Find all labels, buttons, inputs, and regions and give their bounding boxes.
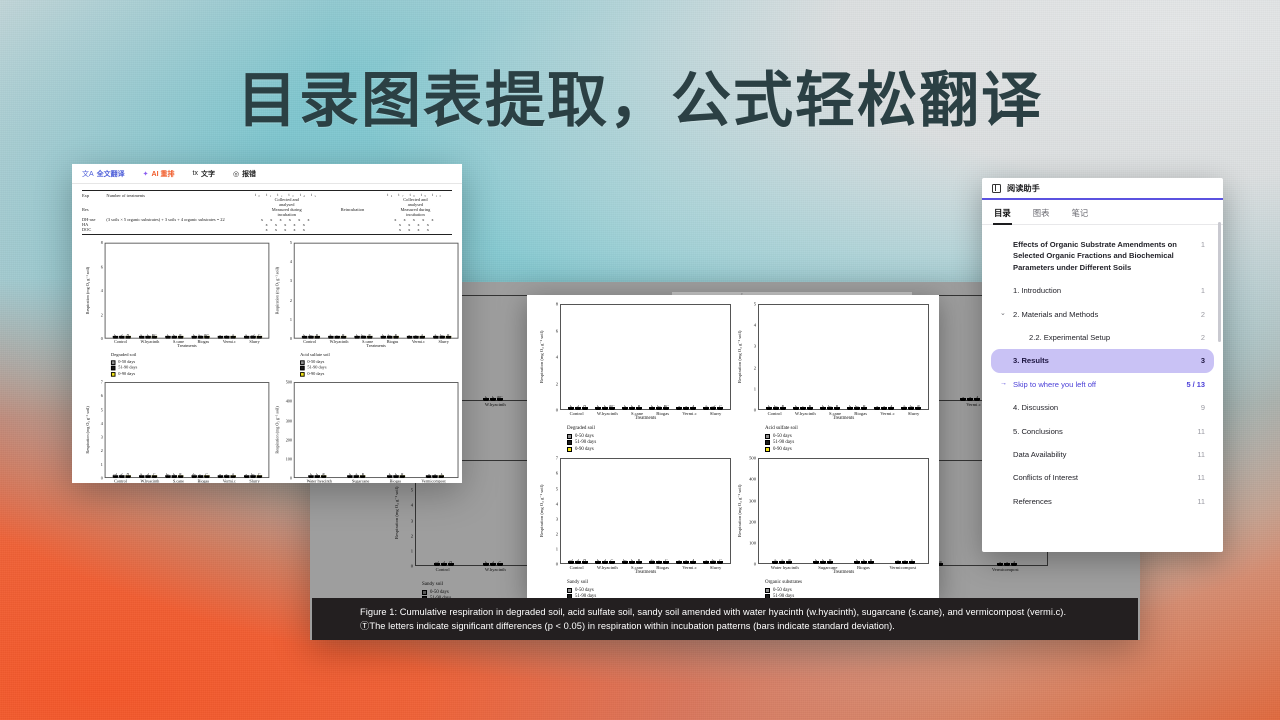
y-axis-tick-label: 1 xyxy=(754,386,756,391)
legend-label: 0-50 days xyxy=(773,588,792,593)
table-subheader-row: ResMeasured duringincubationReincubation… xyxy=(82,207,452,217)
legend-item: 0-90 days xyxy=(111,372,269,377)
toolbar-text-button[interactable]: tx文字 xyxy=(193,169,215,179)
y-axis-tick-label: 500 xyxy=(286,380,292,385)
toolbar-translate-button[interactable]: 文A全文翻译 xyxy=(82,169,125,179)
toc-item-4[interactable]: 3. Results3 xyxy=(991,349,1214,372)
toc-item-page: 11 xyxy=(1191,496,1205,507)
x-axis-tick-label: Slurry xyxy=(249,340,259,345)
chart-title: Acid sulfate soil xyxy=(300,353,458,358)
chart-title: Acid sulfate soil xyxy=(765,426,929,431)
significance-letter: c xyxy=(802,404,804,409)
significance-letter: a xyxy=(685,404,687,409)
chart-panel: Respiration (mg O₂ g⁻¹ soil)010020030040… xyxy=(271,380,460,483)
y-axis-tick-label: 4 xyxy=(556,501,558,506)
significance-letter: b xyxy=(303,333,305,338)
chart-canvas: cddDbdCbcbBdecCaaAebcC xyxy=(105,382,270,478)
significance-letter: A xyxy=(232,333,234,338)
legend-label: 0-50 days xyxy=(118,360,135,365)
bar-group: aaA xyxy=(426,383,444,477)
bar-group: bbcB xyxy=(901,305,921,409)
legend-swatch xyxy=(300,372,305,377)
significance-letter: cd xyxy=(113,473,116,478)
significance-letter: b xyxy=(193,333,195,338)
chart-canvas: cddDbdCbcbBdecCaaAebcC xyxy=(560,458,731,564)
significance-letter: bc xyxy=(774,404,778,409)
chart-canvas: bbcBbcBbbcBbbcBaaAbbcB xyxy=(294,243,459,339)
x-axis-tick-label: Water hyacinth xyxy=(307,479,332,483)
y-axis-tick-label: 1 xyxy=(101,462,103,467)
y-axis-tick-label: 0 xyxy=(556,562,558,567)
toolbar-sparkle-button[interactable]: ✦AI 重排 xyxy=(143,169,175,179)
table-subheader-measured-right: Measured duringincubation xyxy=(379,207,452,217)
x-axis-tick-label: Biogas xyxy=(656,411,669,416)
reading-assistant-tabs[interactable]: 目录图表笔记 xyxy=(982,200,1223,225)
x-axis-tick-label: Vermi.c xyxy=(223,479,236,483)
y-axis-tick-label: 5 xyxy=(101,407,103,412)
figure-preview-card: Respiration (mg O₂ g⁻¹ soil)02468bdDbbBC… xyxy=(527,295,939,598)
toolbar-button-label: 报错 xyxy=(242,169,256,179)
significance-letter: b xyxy=(316,473,318,478)
significance-letter: b xyxy=(781,558,783,563)
bar-group: aaA xyxy=(217,383,235,477)
toc-item-page: 11 xyxy=(1191,472,1205,483)
significance-letter: B xyxy=(781,404,783,409)
chart-title: Degraded soil xyxy=(111,353,269,358)
significance-letter: b xyxy=(631,404,633,409)
significance-letter: d xyxy=(120,473,122,478)
table-header-collected-left: t₀ t₁ t₂ t₃ t₄ t₅Collected andanalysed xyxy=(247,193,326,207)
legend-swatch xyxy=(567,440,572,445)
bar-group: bbcB xyxy=(433,244,451,338)
significance-letter: cd xyxy=(711,404,715,409)
toc-item-page: 9 xyxy=(1195,402,1205,413)
document-toolbar[interactable]: 文A全文翻译✦AI 重排tx文字◎报错 xyxy=(72,164,462,184)
y-axis-tick-label: 0 xyxy=(556,408,558,413)
y-axis-tick-label: 2 xyxy=(556,531,558,536)
significance-letter: d xyxy=(120,333,122,338)
document-page-body: ExpNumber of treatmentst₀ t₁ t₂ t₃ t₄ t₅… xyxy=(72,184,462,483)
significance-letter: B xyxy=(401,473,403,478)
legend-label: 0-50 days xyxy=(575,434,594,439)
significance-letter: b xyxy=(651,404,653,409)
x-axis-tick-label: Vermi.c xyxy=(880,411,894,416)
significance-letter: B xyxy=(316,333,318,338)
significance-letter: A xyxy=(692,558,694,563)
bar-group: bbB xyxy=(308,383,326,477)
document-figure-grid-inner: Respiration (mg O₂ g⁻¹ soil)02468bdDbbBC… xyxy=(82,240,460,457)
x-axis-tick-label: Biogas xyxy=(857,565,870,570)
y-axis-ticks: 012345 xyxy=(281,243,294,339)
x-axis-tick-labels: Water hyacinthSugarcaneBiogasVermicompos… xyxy=(294,478,459,483)
translate-icon: 文A xyxy=(82,169,94,179)
x-axis-tick-label: Vermi.c xyxy=(682,565,696,570)
significance-letter: C xyxy=(205,473,207,478)
toc-item-page: 11 xyxy=(1191,426,1205,437)
bar-group: bbB xyxy=(813,459,833,563)
legend-label: 0-90 days xyxy=(307,372,324,377)
legend-item: 51-90 days xyxy=(567,440,731,445)
x-axis-tick-label: Control xyxy=(114,340,127,345)
x-axis-tick-label: Slurry xyxy=(710,565,721,570)
document-viewer-window[interactable]: 文A全文翻译✦AI 重排tx文字◎报错 ExpNumber of treatme… xyxy=(72,164,462,483)
legend-item: 51-90 days xyxy=(111,366,269,371)
x-axis-tick-label: Biogas xyxy=(854,411,867,416)
legend-swatch xyxy=(111,360,116,365)
x-axis-tick-label: Control xyxy=(768,411,782,416)
y-axis-tick-label: 300 xyxy=(749,498,756,503)
significance-letter: B xyxy=(836,404,838,409)
significance-letter: A xyxy=(440,473,442,478)
bar-group: bbcB xyxy=(301,244,319,338)
y-axis-tick-label: 200 xyxy=(749,519,756,524)
significance-letter: bc xyxy=(388,333,391,338)
significance-letter: b xyxy=(173,473,175,478)
bar-group: bbB xyxy=(854,459,874,563)
significance-letter: b xyxy=(570,404,572,409)
y-axis-tick-label: 100 xyxy=(286,457,292,462)
table-header-treatments: Number of treatments xyxy=(106,193,247,198)
bar-group: bbB xyxy=(347,383,365,477)
legend-swatch xyxy=(765,588,770,593)
table-rule-top xyxy=(82,190,452,191)
x-axis-tick-label: Slurry xyxy=(249,479,259,483)
bar-group: aaA xyxy=(895,459,915,563)
x-axis-tick-label: Water hyacinth xyxy=(771,565,799,570)
x-axis-tick-label: Biogas xyxy=(656,565,669,570)
significance-letter: d xyxy=(604,558,606,563)
toc-item-6[interactable]: 4. Discussion9 xyxy=(991,396,1214,419)
toc-item-9[interactable]: Conflicts of Interest11 xyxy=(991,466,1214,489)
y-axis-tick-label: 4 xyxy=(556,355,558,360)
toc-item-7[interactable]: 5. Conclusions11 xyxy=(991,420,1214,443)
toc-item-page: 11 xyxy=(1191,449,1205,460)
significance-letter: BC xyxy=(152,333,157,338)
x-axis-tick-label: Biogas xyxy=(390,479,402,483)
y-axis-ticks: 01234567 xyxy=(92,382,105,478)
chart-plot-area: Respiration (mg O₂ g⁻¹ soil)02468bdDbbBC… xyxy=(84,243,270,339)
toc-item-10[interactable]: References11 xyxy=(991,490,1214,513)
chart-canvas: bdDbbBCbbBbbcBCaaAbcdC xyxy=(105,243,270,339)
legend-label: 0-90 days xyxy=(575,447,594,452)
table-cell-right-marks: x x x x xyxy=(379,227,452,232)
significance-letter: c xyxy=(336,333,338,338)
significance-letter: D xyxy=(583,404,586,409)
reading-assistant-header: 阅读助手 xyxy=(982,178,1223,200)
chart-plot-area: Respiration (mg O₂ g⁻¹ soil)01234567cddD… xyxy=(84,382,270,478)
significance-letter: a xyxy=(225,333,227,338)
significance-letter: a xyxy=(883,404,885,409)
y-axis-tick-label: 4 xyxy=(101,421,103,426)
legend-swatch xyxy=(765,434,770,439)
toolbar-report-button[interactable]: ◎报错 xyxy=(233,169,256,179)
y-axis-tick-label: 6 xyxy=(101,264,103,269)
significance-letter: b xyxy=(356,333,358,338)
toolbar-button-label: 全文翻译 xyxy=(97,169,125,179)
significance-letter: a xyxy=(904,558,906,563)
legend-item: 0-50 days xyxy=(111,360,269,365)
significance-letter: b xyxy=(140,473,142,478)
significance-letter: B xyxy=(917,404,919,409)
chart-legend: Degraded soil0-50 days51-90 days0-90 day… xyxy=(111,353,269,376)
significance-letter: a xyxy=(678,404,680,409)
y-axis-label: Respiration (mg O₂ g⁻¹ soil) xyxy=(735,458,744,564)
significance-letter: b xyxy=(705,404,707,409)
bar-group: aaA xyxy=(406,244,424,338)
bar-group: bbcB xyxy=(820,305,840,409)
y-axis-tick-label: 7 xyxy=(101,380,103,385)
significance-letter: b xyxy=(434,333,436,338)
bar-group: bbcBC xyxy=(649,305,669,409)
figure-caption-bar: Figure 1: Cumulative respiration in degr… xyxy=(312,598,1138,640)
y-axis-tick-label: 5 xyxy=(754,302,756,307)
chart-panel: Respiration (mg O₂ g⁻¹ soil)02468bdDbbBC… xyxy=(82,240,271,380)
significance-letter: b xyxy=(903,404,905,409)
y-axis-tick-label: 400 xyxy=(286,399,292,404)
significance-letter: b xyxy=(597,558,599,563)
significance-letter: b xyxy=(631,558,633,563)
y-axis-tick-label: 8 xyxy=(101,240,103,245)
significance-letter: BC xyxy=(204,333,209,338)
bar-groups: bbBbbBbbBaaA xyxy=(295,383,458,477)
toc-item-label: Data Availability xyxy=(1013,449,1186,460)
toolbar-button-label: AI 重排 xyxy=(152,169,175,179)
x-axis-tick-label: Slurry xyxy=(438,340,448,345)
bar-group: bbB xyxy=(772,459,792,563)
y-axis-tick-label: 6 xyxy=(556,328,558,333)
legend-swatch xyxy=(111,366,116,371)
chart-canvas: bbcBbcBbbcBbbcBaaAbbcB xyxy=(758,304,929,410)
toc-item-0[interactable]: Effects of Organic Substrate Amendments … xyxy=(991,233,1214,279)
bar-groups: cddDbdCbcbBdecCaaAebcC xyxy=(106,383,269,477)
x-axis-tick-label: Slurry xyxy=(908,411,919,416)
x-axis-tick-label: Control xyxy=(570,565,584,570)
toc-item-label: 2. Materials and Methods xyxy=(1013,309,1190,320)
toc-item-1[interactable]: 1. Introduction1 xyxy=(991,279,1214,302)
toc-item-3[interactable]: 2.2. Experimental Setup2 xyxy=(991,326,1214,349)
significance-letter: B xyxy=(394,333,396,338)
significance-letter: b xyxy=(349,473,351,478)
legend-item: 0-50 days xyxy=(765,434,929,439)
table-header-reincubation: Reincubation xyxy=(326,207,379,212)
legend-swatch xyxy=(567,434,572,439)
x-axis-tick-label: W.hyacinth xyxy=(597,565,618,570)
page-title: 目录图表提取，公式轻松翻译 xyxy=(0,52,1280,139)
document-figure-grid: Respiration (mg O₂ g⁻¹ soil)02468bdDbbBC… xyxy=(82,240,417,457)
table-of-contents-list[interactable]: Effects of Organic Substrate Amendments … xyxy=(982,225,1223,513)
y-axis-tick-label: 5 xyxy=(290,240,292,245)
y-axis-tick-label: 0 xyxy=(754,408,756,413)
reading-assistant-title: 阅读助手 xyxy=(1007,182,1040,194)
significance-letter: a xyxy=(678,558,680,563)
y-axis-label: Respiration (mg O₂ g⁻¹ soil) xyxy=(537,304,546,410)
significance-letter: b xyxy=(147,333,149,338)
significance-letter: b xyxy=(795,404,797,409)
significance-letter: b xyxy=(140,333,142,338)
significance-letter: b xyxy=(624,404,626,409)
bar-group: bdC xyxy=(595,459,615,563)
significance-letter: a xyxy=(897,558,899,563)
significance-letter: C xyxy=(665,558,668,563)
legend-label: 51-90 days xyxy=(307,366,326,371)
y-axis-ticks: 02468 xyxy=(546,304,560,410)
significance-letter: BC xyxy=(609,404,614,409)
reading-assistant-panel[interactable]: 阅读助手 目录图表笔记 Effects of Organic Substrate… xyxy=(982,178,1223,552)
legend-item: 0-50 days xyxy=(300,360,458,365)
x-axis-tick-label: Control xyxy=(570,411,584,416)
significance-letter: e xyxy=(705,558,707,563)
y-axis-tick-label: 3 xyxy=(754,344,756,349)
toc-item-label: 4. Discussion xyxy=(1013,402,1190,413)
significance-letter: d xyxy=(577,558,579,563)
chevron-down-icon[interactable]: ⌄ xyxy=(1000,309,1008,320)
significance-letter: a xyxy=(428,473,430,478)
significance-letter: b xyxy=(173,333,175,338)
sparkle-icon: ✦ xyxy=(143,170,149,178)
legend-label: 51-90 days xyxy=(773,440,794,445)
toc-item-label: Skip to where you left off xyxy=(1013,379,1176,390)
legend-swatch xyxy=(111,372,116,377)
chart-plot-area: Respiration (mg O₂ g⁻¹ soil)012345bbcBbc… xyxy=(735,304,929,410)
legend-swatch xyxy=(300,360,305,365)
significance-letter: bc xyxy=(309,333,312,338)
significance-letter: b xyxy=(856,558,858,563)
y-axis-tick-label: 3 xyxy=(556,516,558,521)
y-axis-tick-label: 2 xyxy=(101,312,103,317)
bar-group: aaA xyxy=(217,244,235,338)
x-axis-tick-label: Biogas xyxy=(387,340,399,345)
tab-图表[interactable]: 图表 xyxy=(1033,207,1050,224)
significance-letter: B xyxy=(638,558,640,563)
legend-item: 0-90 days xyxy=(765,447,929,452)
bar-group: aaA xyxy=(676,459,696,563)
tab-笔记[interactable]: 笔记 xyxy=(1072,207,1089,224)
significance-letter: A xyxy=(692,404,694,409)
x-axis-tick-label: Biogas xyxy=(198,479,210,483)
bar-group: bbcB xyxy=(847,305,867,409)
x-axis-tick-label: W.hyacinth xyxy=(597,411,618,416)
y-axis-tick-label: 1 xyxy=(556,547,558,552)
report-icon: ◎ xyxy=(233,170,239,178)
y-axis-tick-label: 1 xyxy=(290,317,292,322)
chart-panel: Respiration (mg O₂ g⁻¹ soil)01234567cddD… xyxy=(535,455,733,609)
scrollbar-thumb[interactable] xyxy=(1218,222,1221,342)
toc-item-5[interactable]: →Skip to where you left off5 / 13 xyxy=(991,373,1214,396)
bar-groups: bdDbbBCbbBbbcBCaaAbcdC xyxy=(106,244,269,338)
significance-letter: B xyxy=(829,558,831,563)
x-axis-tick-label: Vermicompost xyxy=(421,479,445,483)
significance-letter: B xyxy=(870,558,872,563)
bar-groups: cddDbdCbcbBdecCaaAebcC xyxy=(561,459,730,563)
y-axis-label: Respiration (mg O₂ g⁻¹ soil) xyxy=(735,304,744,410)
significance-letter: a xyxy=(225,473,227,478)
significance-letter: b xyxy=(774,558,776,563)
y-axis-label: Respiration (mg O₂ g⁻¹ soil) xyxy=(273,243,281,339)
toc-item-8[interactable]: Data Availability11 xyxy=(991,443,1214,466)
chart-panel: Respiration (mg O₂ g⁻¹ soil)012345bbcBbc… xyxy=(733,301,931,455)
toc-item-2[interactable]: ⌄2. Materials and Methods2 xyxy=(991,303,1214,326)
chart-legend: Degraded soil0-50 days51-90 days0-90 day… xyxy=(567,426,731,452)
y-axis-tick-label: 500 xyxy=(749,456,756,461)
legend-swatch xyxy=(300,366,305,371)
toc-item-label: 2.2. Experimental Setup xyxy=(1013,332,1190,343)
bar-group: bbB xyxy=(622,305,642,409)
table-header-row: ExpNumber of treatmentst₀ t₁ t₂ t₃ t₄ t₅… xyxy=(82,193,452,207)
bar-group: aaA xyxy=(874,305,894,409)
tab-目录[interactable]: 目录 xyxy=(994,207,1011,224)
legend-item: 0-50 days xyxy=(567,588,731,593)
y-axis-tick-label: 0 xyxy=(290,476,292,481)
x-axis-tick-label: W.hyacinth xyxy=(795,411,816,416)
bar-group: bbB xyxy=(165,244,183,338)
bar-group: bdC xyxy=(139,383,157,477)
bar-group: bbBC xyxy=(595,305,615,409)
figure-caption-text: Figure 1: Cumulative respiration in degr… xyxy=(360,607,1066,631)
bar-group: decC xyxy=(649,459,669,563)
significance-letter: bc xyxy=(909,404,913,409)
significance-letter: B xyxy=(447,333,449,338)
bar-group: ebcC xyxy=(703,459,723,563)
significance-letter: bc xyxy=(828,404,832,409)
bar-group: bdD xyxy=(568,305,588,409)
y-axis-tick-label: 3 xyxy=(290,279,292,284)
significance-letter: b xyxy=(167,333,169,338)
chart-panel: Respiration (mg O₂ g⁻¹ soil)02468bdDbbBC… xyxy=(535,301,733,455)
y-axis-tick-label: 0 xyxy=(290,336,292,341)
y-axis-tick-label: 2 xyxy=(101,449,103,454)
legend-label: 51-90 days xyxy=(575,440,596,445)
chart-legend: Acid sulfate soil0-50 days51-90 days0-90… xyxy=(765,426,929,452)
significance-letter: cd xyxy=(251,333,254,338)
y-axis-tick-label: 6 xyxy=(101,394,103,399)
y-axis-tick-label: 0 xyxy=(101,476,103,481)
bar-group: bcdC xyxy=(244,244,262,338)
significance-letter: bc xyxy=(361,333,364,338)
significance-letter: bc xyxy=(855,404,859,409)
significance-letter: b xyxy=(597,404,599,409)
x-axis-tick-label: Control xyxy=(303,340,316,345)
panel-toggle-icon[interactable] xyxy=(992,184,1001,193)
arrow-right-icon[interactable]: → xyxy=(1000,379,1008,390)
significance-letter: b xyxy=(310,473,312,478)
significance-letter: b xyxy=(389,473,391,478)
y-axis-label: Respiration (mg O₂ g⁻¹ soil) xyxy=(84,382,92,478)
table-header-collected-right: t₆ t₇ t₈ t₉ t₁₀Collected andanalysed xyxy=(379,193,452,207)
significance-letter: b xyxy=(245,333,247,338)
x-axis-label: Treatments xyxy=(560,416,731,421)
table-rule-bottom xyxy=(82,234,452,235)
bar-group: bbcB xyxy=(766,305,786,409)
x-axis-tick-labels: ControlW.hyacinthS.caneBiogasVermi.cSlur… xyxy=(105,478,270,483)
y-axis-tick-label: 2 xyxy=(556,381,558,386)
y-axis-tick-label: 100 xyxy=(749,541,756,546)
y-axis-tick-label: 300 xyxy=(286,418,292,423)
x-axis-label: Treatments xyxy=(758,570,929,575)
bar-groups: bbcBbcBbbcBbbcBaaAbbcB xyxy=(759,305,928,409)
x-axis-tick-label: Vermi.c xyxy=(412,340,425,345)
chart-title: Degraded soil xyxy=(567,426,731,431)
y-axis-tick-label: 200 xyxy=(286,438,292,443)
y-axis-tick-label: 4 xyxy=(290,260,292,265)
significance-letter: de xyxy=(192,473,195,478)
significance-letter: a xyxy=(408,333,410,338)
bar-group: ebcC xyxy=(244,383,262,477)
significance-letter: D xyxy=(126,333,129,338)
significance-letter: B xyxy=(342,333,344,338)
y-axis-tick-label: 400 xyxy=(749,477,756,482)
chart-canvas: bdDbbBCbbBbbcBCaaAbcdC xyxy=(560,304,731,410)
legend-swatch xyxy=(567,447,572,452)
